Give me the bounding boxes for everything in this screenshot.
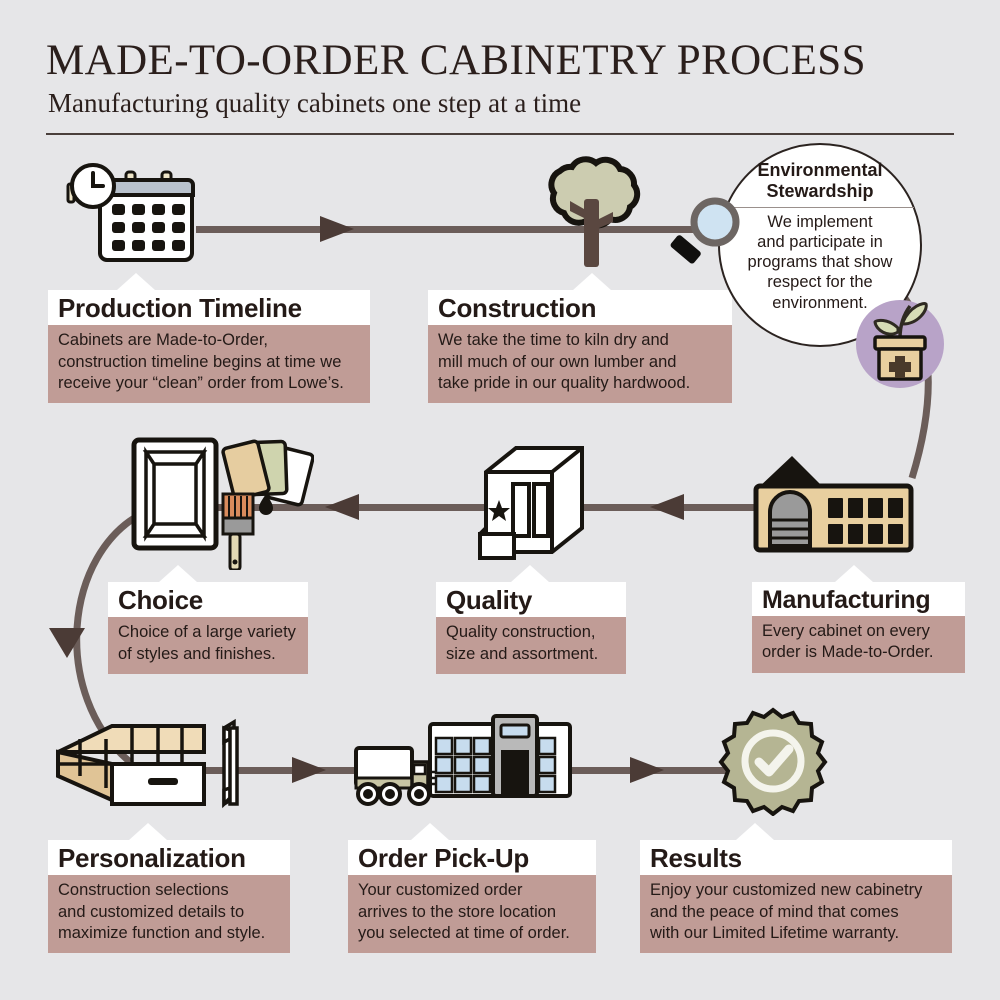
step-body: Enjoy your customized new cabinetry and … [640, 875, 952, 953]
checkmark-badge-icon [718, 706, 828, 816]
step-title: Order Pick-Up [348, 840, 596, 875]
step-card-results: Results Enjoy your customized new cabine… [640, 840, 952, 953]
page-subtitle: Manufacturing quality cabinets one step … [48, 88, 581, 119]
arrowhead-row1 [320, 210, 360, 250]
step-card-quality: Quality Quality construction, size and a… [436, 582, 626, 674]
factory-icon [748, 450, 920, 558]
step-body: Every cabinet on every order is Made-to-… [752, 616, 965, 673]
header-divider [46, 133, 954, 135]
arrowhead-curve-left [46, 628, 92, 668]
card-notch [129, 823, 167, 840]
step-body: We take the time to kiln dry and mill mu… [428, 325, 732, 403]
arrowhead-row3-right [630, 752, 670, 792]
cabinet-icon [474, 442, 594, 560]
plant-pot-icon [848, 292, 952, 396]
page-title: MADE-TO-ORDER CABINETRY PROCESS [46, 36, 866, 85]
calendar-clock-icon [58, 162, 208, 270]
step-card-production-timeline: Production Timeline Cabinets are Made-to… [48, 290, 370, 403]
card-notch [835, 565, 873, 582]
step-title: Results [640, 840, 952, 875]
step-card-construction: Construction We take the time to kiln dr… [428, 290, 732, 403]
step-body: Cabinets are Made-to-Order, construction… [48, 325, 370, 403]
step-body: Your customized order arrives to the sto… [348, 875, 596, 953]
step-title: Quality [436, 582, 626, 617]
step-title: Personalization [48, 840, 290, 875]
card-notch [736, 823, 774, 840]
step-card-personalization: Personalization Construction selections … [48, 840, 290, 953]
arrowhead-row2-left [325, 489, 365, 529]
arrowhead-row3-mid [292, 752, 332, 792]
truck-store-icon [352, 712, 578, 812]
card-notch [117, 273, 155, 290]
step-title: Construction [428, 290, 732, 325]
step-title: Manufacturing [752, 582, 965, 616]
door-swatches-brush-icon [128, 422, 314, 570]
step-title: Choice [108, 582, 308, 617]
step-card-choice: Choice Choice of a large variety of styl… [108, 582, 308, 674]
arrowhead-row2-mid [650, 489, 690, 529]
step-body: Choice of a large variety of styles and … [108, 617, 308, 674]
step-card-order-pick-up: Order Pick-Up Your customized order arri… [348, 840, 596, 953]
stewardship-divider [726, 207, 914, 208]
card-notch [511, 565, 549, 582]
tree-icon [532, 155, 654, 273]
step-body: Quality construction, size and assortmen… [436, 617, 626, 674]
magnifier-icon [665, 196, 751, 276]
step-body: Construction selections and customized d… [48, 875, 290, 953]
drawer-handle-icon [54, 718, 246, 818]
step-card-manufacturing: Manufacturing Every cabinet on every ord… [752, 582, 965, 673]
card-notch [411, 823, 449, 840]
card-notch [573, 273, 611, 290]
step-title: Production Timeline [48, 290, 370, 325]
